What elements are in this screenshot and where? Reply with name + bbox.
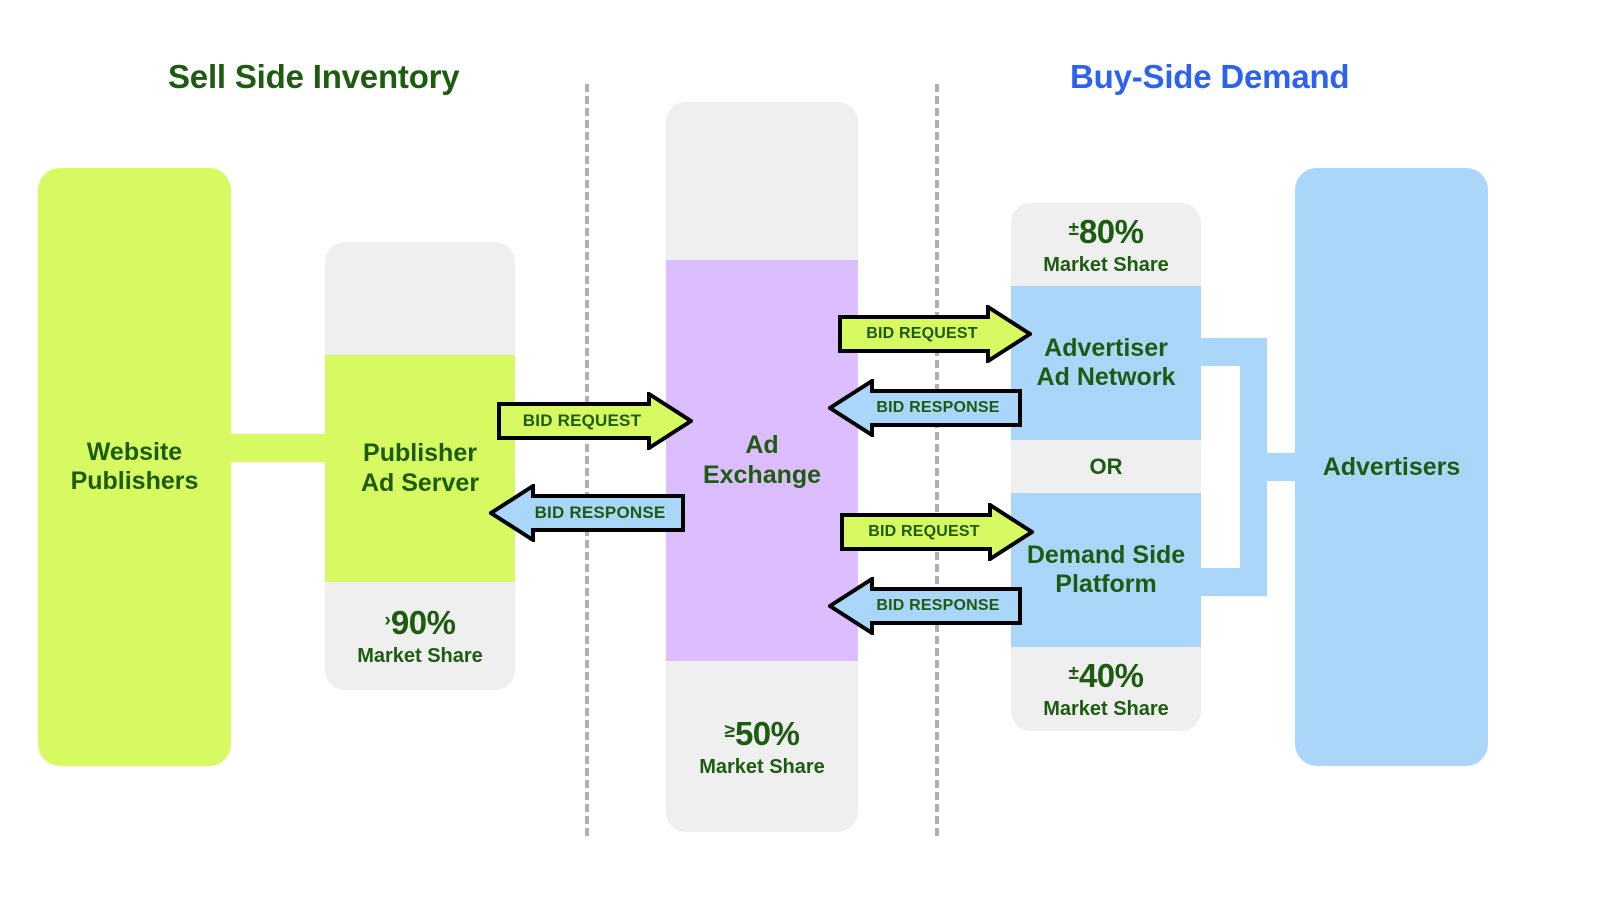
block-publisher-ad-server[interactable]: Publisher Ad Server [325, 355, 515, 582]
connector-stub-to-advertisers [1240, 453, 1300, 481]
ad-exchange-market-share-value: ≥50% [725, 717, 800, 750]
dsp-market-share: ±40% Market Share [1011, 647, 1201, 731]
arrow-bid-request-exchange-to-ad-network[interactable]: BID REQUEST [838, 305, 1032, 363]
arrow-label: BID REQUEST [838, 325, 1032, 343]
arrow-bid-request-publisher-to-exchange[interactable]: BID REQUEST [497, 392, 693, 450]
ad-network-market-share-label: Market Share [1043, 255, 1169, 275]
card-ad-exchange-top-pad [666, 102, 858, 260]
ad-network-market-share-value: ±80% [1069, 215, 1144, 248]
plus-minus-symbol-icon: ± [1069, 219, 1079, 240]
label-line-1: Website [87, 438, 182, 466]
or-separator-label: OR [1090, 454, 1123, 480]
label-line-1: Advertiser [1044, 334, 1168, 362]
share-percent: 80% [1079, 213, 1144, 250]
divider-dashed-left [585, 84, 589, 836]
arrow-bid-request-exchange-to-dsp[interactable]: BID REQUEST [840, 503, 1034, 561]
dsp-market-share-label: Market Share [1043, 699, 1169, 719]
arrow-bid-response-exchange-to-publisher[interactable]: BID RESPONSE [489, 484, 685, 542]
label-line-2: Ad Network [1037, 363, 1176, 391]
block-publisher-ad-server-label: Publisher Ad Server [361, 439, 479, 498]
ad-exchange-market-share-label: Market Share [699, 757, 825, 777]
block-website-publishers[interactable]: Website Publishers [38, 168, 231, 766]
publisher-market-share-value: ›90% [385, 606, 456, 639]
dsp-market-share-value: ±40% [1069, 659, 1144, 692]
publisher-market-share: ›90% Market Share [325, 582, 515, 690]
block-advertisers-label: Advertisers [1323, 453, 1461, 482]
plus-minus-symbol-icon: ± [1069, 663, 1079, 684]
connector-publishers-to-ad-server [228, 434, 328, 462]
arrow-label: BID RESPONSE [828, 597, 1022, 615]
share-percent: 90% [391, 604, 456, 641]
card-ad-exchange[interactable]: Ad Exchange ≥50% Market Share [666, 102, 858, 832]
share-percent: 40% [1079, 657, 1144, 694]
arrow-label: BID RESPONSE [489, 503, 685, 523]
arrow-bid-response-dsp-to-exchange[interactable]: BID RESPONSE [828, 577, 1022, 635]
share-percent: 50% [735, 715, 800, 752]
block-advertiser-ad-network-label: Advertiser Ad Network [1037, 334, 1176, 393]
arrow-label: BID REQUEST [497, 411, 693, 431]
label-line-1: Demand Side [1027, 541, 1185, 569]
heading-sell-side-inventory: Sell Side Inventory [168, 58, 459, 96]
arrow-label: BID RESPONSE [828, 399, 1022, 417]
label-line-1: Publisher [363, 439, 477, 467]
label-line-2: Platform [1055, 570, 1156, 598]
arrow-label: BID REQUEST [840, 523, 1034, 541]
block-demand-side-platform-label: Demand Side Platform [1027, 541, 1185, 600]
block-advertisers[interactable]: Advertisers [1295, 168, 1488, 766]
label-line-2: Ad Server [361, 469, 479, 497]
card-buy-side[interactable]: ±80% Market Share Advertiser Ad Network … [1011, 203, 1201, 731]
diagram-canvas: Sell Side Inventory Buy-Side Demand Webs… [0, 0, 1600, 900]
card-publisher-ad-server[interactable]: Publisher Ad Server ›90% Market Share [325, 242, 515, 690]
block-advertiser-ad-network[interactable]: Advertiser Ad Network [1011, 286, 1201, 440]
ad-exchange-market-share: ≥50% Market Share [666, 661, 858, 832]
arrow-bid-response-ad-network-to-exchange[interactable]: BID RESPONSE [828, 379, 1022, 437]
ad-network-market-share: ±80% Market Share [1011, 203, 1201, 286]
label-line-1: Ad [745, 431, 778, 459]
label-line-2: Exchange [703, 461, 821, 489]
block-ad-exchange-label: Ad Exchange [703, 431, 821, 490]
or-separator: OR [1011, 440, 1201, 493]
label-line-2: Publishers [71, 467, 199, 495]
comparison-symbol-icon: ≥ [725, 721, 735, 742]
card-publisher-top-pad [325, 242, 515, 355]
publisher-market-share-label: Market Share [357, 646, 483, 666]
divider-dashed-right [935, 84, 939, 836]
heading-buy-side-demand: Buy-Side Demand [1070, 58, 1349, 96]
block-website-publishers-label: Website Publishers [71, 438, 199, 496]
block-demand-side-platform[interactable]: Demand Side Platform [1011, 493, 1201, 647]
